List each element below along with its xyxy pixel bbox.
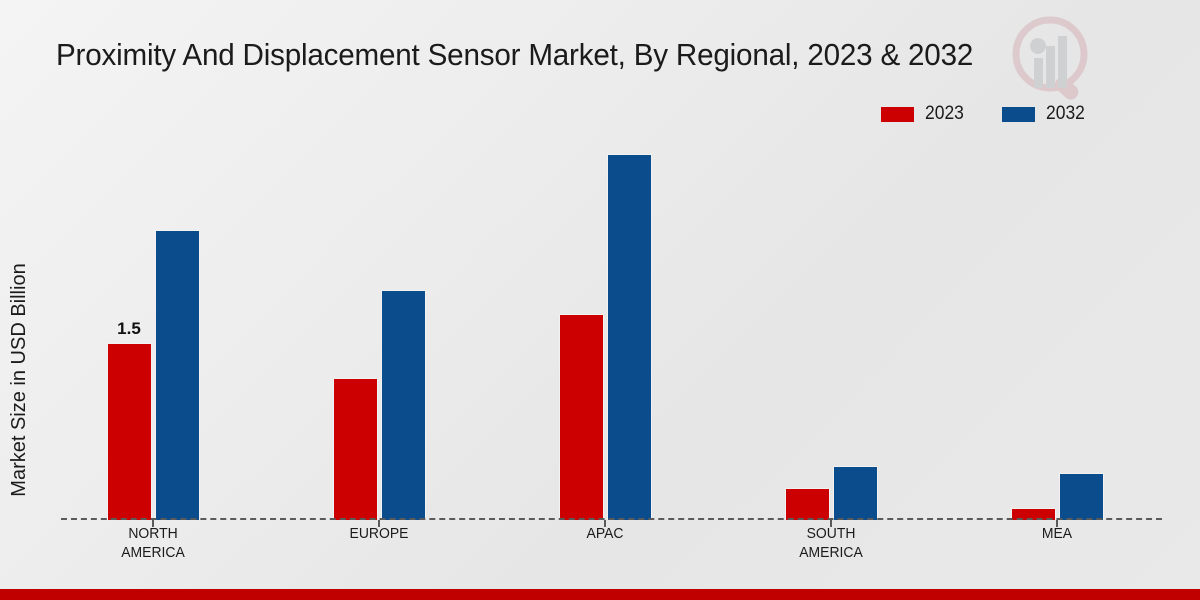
x-axis-baseline: [61, 518, 1162, 520]
x-axis-category-labels: NORTHAMERICAEUROPEAPACSOUTHAMERICAMEA: [40, 524, 1170, 562]
bar-group: [266, 130, 492, 520]
category-label: APAC: [500, 524, 710, 562]
bar-value-label: 1.5: [117, 319, 141, 339]
chart-legend: 2023 2032: [881, 103, 1088, 125]
footer-accent-bar: [0, 589, 1200, 600]
legend-label-2023: 2023: [925, 103, 964, 125]
category-label: NORTHAMERICA: [48, 524, 258, 562]
chart-canvas: Proximity And Displacement Sensor Market…: [0, 0, 1200, 600]
bar[interactable]: [559, 314, 604, 520]
bar[interactable]: [607, 154, 652, 520]
legend-item-2023[interactable]: 2023: [881, 103, 967, 125]
legend-swatch-2023: [881, 107, 914, 122]
bar[interactable]: 1.5: [107, 343, 152, 520]
category-label: MEA: [952, 524, 1162, 562]
bar[interactable]: [155, 230, 200, 520]
bar-group: 1.5: [40, 130, 266, 520]
chart-title: Proximity And Displacement Sensor Market…: [56, 36, 1107, 74]
bar[interactable]: [381, 290, 426, 520]
category-label: SOUTHAMERICA: [726, 524, 936, 562]
legend-item-2032[interactable]: 2032: [1002, 103, 1088, 125]
bar-group: [718, 130, 944, 520]
legend-label-2032: 2032: [1046, 103, 1085, 125]
bar[interactable]: [1059, 473, 1104, 520]
bar[interactable]: [333, 378, 378, 520]
bar-group: [944, 130, 1170, 520]
legend-swatch-2032: [1002, 107, 1035, 122]
bar-groups: 1.5: [40, 130, 1170, 520]
bar[interactable]: [833, 466, 878, 520]
plot-area: 1.5: [40, 130, 1170, 520]
category-label: EUROPE: [274, 524, 484, 562]
bar[interactable]: [785, 488, 830, 520]
bar-group: [492, 130, 718, 520]
